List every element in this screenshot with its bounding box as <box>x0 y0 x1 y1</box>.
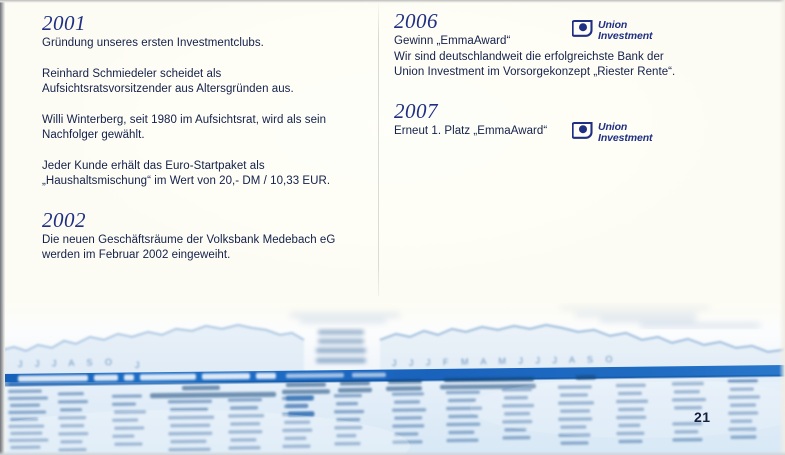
scan-edge-top <box>0 0 785 3</box>
logo-line-1: Union <box>598 122 652 133</box>
union-investment-mark-icon <box>572 121 594 144</box>
spacer <box>42 190 372 209</box>
page-number: 21 <box>694 409 711 425</box>
right-text-column: 2006 Gewinn „EmmaAward“ Wir sind deutsch… <box>394 10 744 139</box>
award-line-2007: Erneut 1. Platz „EmmaAward“ <box>394 124 744 140</box>
union-investment-logo-2006: Union Investment <box>572 19 652 42</box>
paragraph-2002-1: Die neuen Geschäftsräume der Volksbank M… <box>42 233 372 264</box>
page-fold-line <box>378 0 379 312</box>
left-text-column: 2001 Gründung unseres ersten Investmentc… <box>42 12 372 264</box>
paragraph-2001-2: Reinhard Schmiedeler scheidet als Aufsic… <box>42 67 372 98</box>
year-heading-2001: 2001 <box>42 12 372 34</box>
union-investment-mark-icon <box>572 19 594 42</box>
year-heading-2007: 2007 <box>394 100 744 122</box>
paragraph-2001-4: Jeder Kunde erhält das Euro-Startpaket a… <box>42 159 372 190</box>
paragraph-2001-3: Willi Winterberg, seit 1980 im Aufsichts… <box>42 113 372 144</box>
logo-line-2: Investment <box>598 133 652 144</box>
scan-edge-bottom <box>0 451 785 455</box>
newspaper-stock-page-photo: J J J A S O J J J J F M A M J J J A S O <box>0 296 785 455</box>
scan-edge-left <box>0 0 5 455</box>
scanned-brochure-page: 2001 Gründung unseres ersten Investmentc… <box>0 0 785 455</box>
year-heading-2002: 2002 <box>42 209 372 231</box>
union-investment-wordmark: Union Investment <box>598 20 652 41</box>
svg-text:J: J <box>135 360 145 370</box>
logo-line-2: Investment <box>598 31 652 42</box>
paragraph-2006-1: Wir sind deutschlandweit die erfolgreich… <box>394 50 744 81</box>
paragraph-2001-1: Gründung unseres ersten Investmentclubs. <box>42 36 372 52</box>
scan-edge-right <box>779 0 785 455</box>
spacer <box>42 98 372 113</box>
photo-top-fade <box>0 296 785 322</box>
union-investment-logo-2007: Union Investment <box>572 121 652 144</box>
spacer <box>394 81 744 100</box>
logo-line-1: Union <box>598 20 652 31</box>
svg-text:J J J A S O: J J J A S O <box>18 357 117 369</box>
spacer <box>42 52 372 67</box>
year-heading-2006: 2006 <box>394 10 744 32</box>
union-investment-wordmark: Union Investment <box>598 122 652 143</box>
spacer <box>42 144 372 159</box>
award-line-2006: Gewinn „EmmaAward“ <box>394 34 744 50</box>
